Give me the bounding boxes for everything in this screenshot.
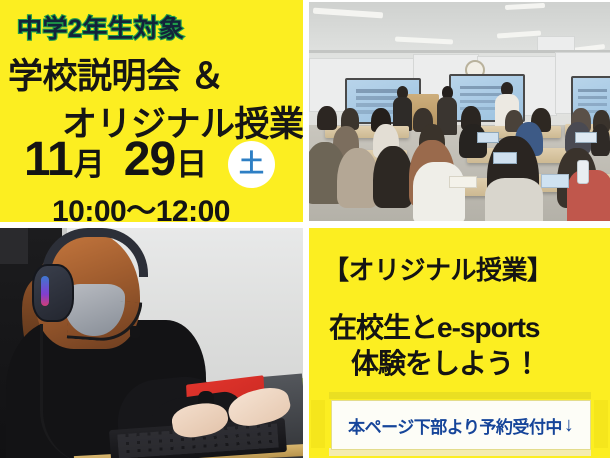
headset-cable [40,324,93,458]
esports-photo-scene [0,228,303,458]
attendee [317,106,337,130]
reservation-cta[interactable]: 本ページ下部より予約受付中 ↓ [309,392,610,458]
event-time-range: 10:00〜12:00 [52,186,230,222]
cta-top-shadow [329,392,591,399]
attendee-foreground [413,162,465,221]
date-day-unit: 日 [176,149,207,180]
date-day-number: 29 [124,136,175,184]
tablet-device [493,152,517,164]
handout-paper [449,176,477,188]
headset-microphone-icon [130,326,140,338]
date-month-unit: 月 [74,149,105,180]
target-audience-kicker: 中学2年生対象 [17,9,184,45]
cta-box[interactable]: 本ページ下部より予約受付中 ↓ [331,400,591,450]
event-date: 11 月 29 日 [24,136,213,184]
attendee-foreground [373,146,413,208]
cta-right-strip [594,400,608,448]
tablet-device [477,132,499,143]
down-arrow-icon: ↓ [564,414,574,437]
date-month-number: 11 [24,136,73,184]
dark-corner-panel [0,228,28,264]
cta-left-strip [311,400,325,448]
original-lesson-subtitle-line-2: 体験をしよう！ [351,342,540,382]
handout-paper [541,174,569,188]
day-of-week-badge: 土 [228,141,275,188]
headline-panel: 中学2年生対象 学校説明会 ＆ オリジナル授業 11 月 29 日 土 10:0… [0,0,303,222]
water-bottle [577,160,589,184]
headset-rgb-light [41,276,49,306]
cta-label: 本ページ下部より予約受付中 [348,413,562,438]
original-lesson-subtitle-line-1: 在校生とe-sports [329,306,539,346]
headline-line-1: 学校説明会 ＆ [8,48,224,99]
tablet-device [575,132,597,143]
classroom-photo [309,2,610,221]
esports-photo [0,228,303,458]
event-poster: 中学2年生対象 学校説明会 ＆ オリジナル授業 11 月 29 日 土 10:0… [0,0,610,458]
original-lesson-panel: 【オリジナル授業】 在校生とe-sports 体験をしよう！ 本ページ下部より予… [309,228,610,458]
attendee-foreground [485,178,543,221]
classroom-photo-scene [309,2,610,221]
original-lesson-title: 【オリジナル授業】 [323,250,553,287]
